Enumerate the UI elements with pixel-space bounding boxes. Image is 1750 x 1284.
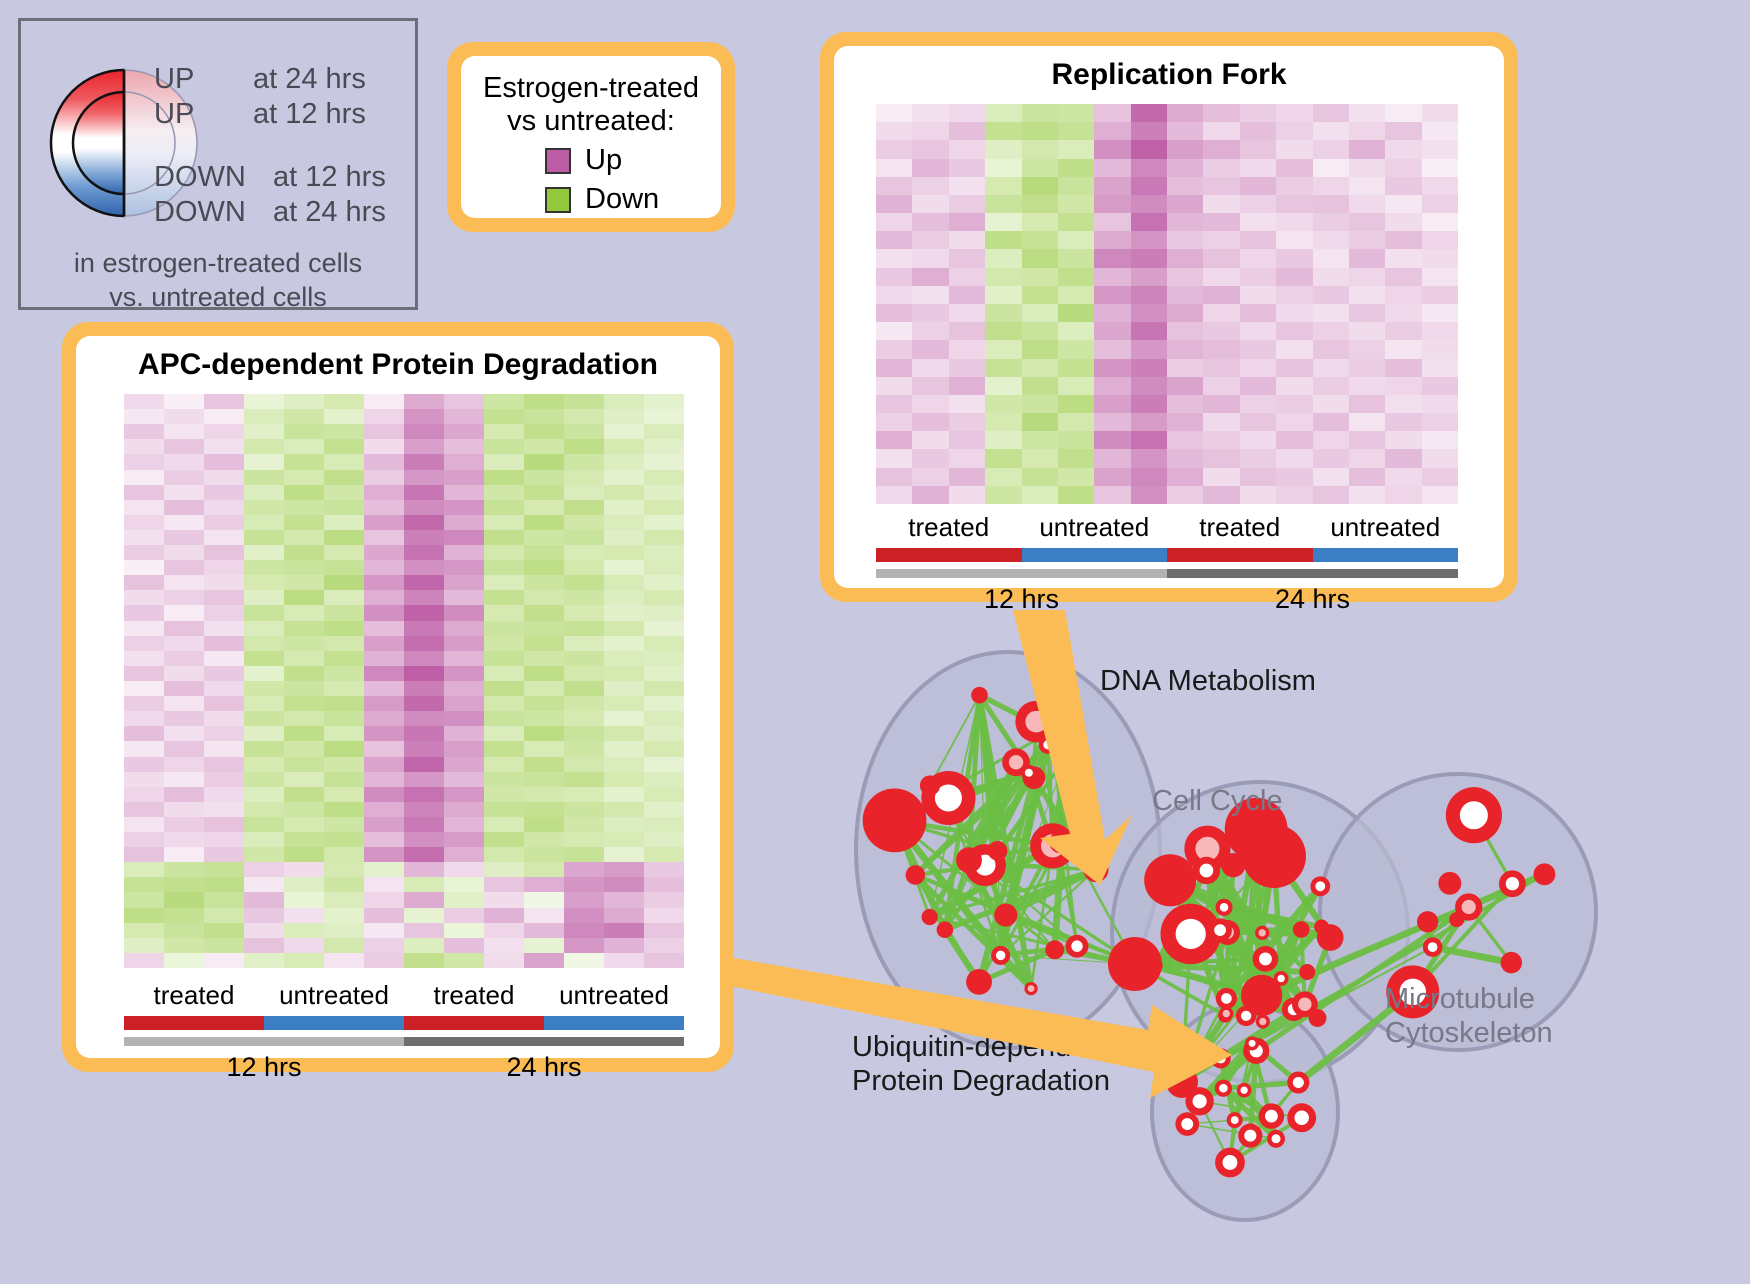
heatmap-cell <box>1349 395 1385 413</box>
heatmap-cell <box>324 621 364 636</box>
heatmap-cell <box>1203 104 1239 122</box>
heatmap-cell <box>1167 195 1203 213</box>
heatmap-cell <box>985 159 1021 177</box>
heatmap-cell <box>1240 231 1276 249</box>
heatmap-cell <box>164 938 204 953</box>
heatmap-cell <box>1203 122 1239 140</box>
heatmap-cell <box>876 413 912 431</box>
heatmap-cell <box>1022 431 1058 449</box>
heatmap-cell <box>324 605 364 620</box>
heatmap-cell <box>204 696 244 711</box>
network-node[interactable] <box>1533 863 1555 885</box>
network-node[interactable] <box>1211 1048 1231 1068</box>
heatmap-cell <box>949 486 985 504</box>
heatmap-cell <box>1422 213 1458 231</box>
heatmap-cell <box>604 636 644 651</box>
heatmap-cell <box>1313 395 1349 413</box>
network-node[interactable] <box>1314 920 1329 935</box>
network-node[interactable] <box>956 847 982 873</box>
heatmap-cell <box>164 696 204 711</box>
heatmap-cell <box>1058 340 1094 358</box>
network-node[interactable] <box>1310 876 1330 896</box>
heatmap-cell <box>1094 213 1130 231</box>
key-state-3: DOWN <box>154 196 246 229</box>
heatmap-cell <box>1094 322 1130 340</box>
heatmap-cell <box>912 322 948 340</box>
heatmap-cell <box>1422 249 1458 267</box>
heatmap-cell <box>949 104 985 122</box>
network-node[interactable] <box>1166 1066 1198 1098</box>
heatmap-cell <box>284 938 324 953</box>
network-node[interactable] <box>1108 937 1162 991</box>
heatmap-cell <box>284 470 324 485</box>
heatmap-cell <box>324 938 364 953</box>
apc-degradation-panel: APC-dependent Protein Degradation treate… <box>62 322 734 1072</box>
heatmap-cell <box>284 590 324 605</box>
network-node[interactable] <box>1175 1112 1199 1136</box>
heatmap-cell <box>484 439 524 454</box>
apc-degradation-inner: APC-dependent Protein Degradation treate… <box>76 336 720 1058</box>
heatmap-cell <box>484 575 524 590</box>
heatmap-cell <box>949 213 985 231</box>
heatmap-cell <box>1131 304 1167 322</box>
heatmap-cell <box>324 741 364 756</box>
heatmap-cell <box>204 560 244 575</box>
heatmap-cell <box>1058 395 1094 413</box>
heatmap-cell <box>124 847 164 862</box>
heatmap-cell <box>1058 377 1094 395</box>
network-node[interactable] <box>1021 765 1037 781</box>
heatmap-cell <box>484 681 524 696</box>
heatmap-cell <box>324 394 364 409</box>
network-node[interactable] <box>1287 1071 1309 1093</box>
network-node[interactable] <box>1438 872 1461 895</box>
heatmap-cell <box>444 711 484 726</box>
heatmap-cell <box>876 377 912 395</box>
heatmap-cell <box>124 470 164 485</box>
heatmap-cell <box>284 500 324 515</box>
network-node[interactable] <box>1259 1103 1285 1129</box>
apc-degradation-time-labels: 12 hrs24 hrs <box>124 1052 684 1083</box>
heatmap-cell <box>604 832 644 847</box>
heatmap-cell <box>604 757 644 772</box>
heatmap-cell <box>1276 195 1312 213</box>
heatmap-cell <box>1022 413 1058 431</box>
network-node[interactable] <box>1215 1080 1232 1097</box>
network-node[interactable] <box>1024 982 1037 995</box>
legend-heading-line1: Estrogen-treated <box>461 72 721 105</box>
heatmap-cell <box>524 847 564 862</box>
heatmap-cell <box>876 213 912 231</box>
heatmap-cell <box>1276 377 1312 395</box>
heatmap-cell <box>564 726 604 741</box>
heatmap-cell <box>912 359 948 377</box>
heatmap-cell <box>1022 140 1058 158</box>
heatmap-cell <box>1022 249 1058 267</box>
network-node[interactable] <box>1423 937 1443 957</box>
network-node[interactable] <box>1245 1036 1259 1050</box>
heatmap-cell <box>284 757 324 772</box>
heatmap-cell <box>1313 213 1349 231</box>
heatmap-cell <box>1385 140 1421 158</box>
network-node[interactable] <box>966 969 992 995</box>
heatmap-cell <box>1058 213 1094 231</box>
key-time-0: at 24 hrs <box>253 63 366 96</box>
heatmap-cell <box>284 741 324 756</box>
heatmap-cell <box>564 575 604 590</box>
heatmap-cell <box>444 545 484 560</box>
network-node[interactable] <box>1446 787 1502 843</box>
heatmap-cell <box>912 268 948 286</box>
heatmap-cell <box>985 449 1021 467</box>
heatmap-cell <box>164 394 204 409</box>
heatmap-cell <box>1349 286 1385 304</box>
heatmap-cell <box>244 605 284 620</box>
heatmap-cell <box>949 304 985 322</box>
heatmap-cell <box>244 787 284 802</box>
heatmap-cell <box>444 651 484 666</box>
network-node[interactable] <box>1253 946 1279 972</box>
network-node[interactable] <box>994 904 1017 927</box>
heatmap-cell <box>1422 413 1458 431</box>
heatmap-cell <box>404 862 444 877</box>
heatmap-cell <box>985 377 1021 395</box>
network-node[interactable] <box>1045 940 1064 959</box>
heatmap-cell <box>524 938 564 953</box>
replication-fork-panel: Replication Fork treateduntreatedtreated… <box>820 32 1518 602</box>
heatmap-cell <box>604 892 644 907</box>
heatmap-cell <box>364 621 404 636</box>
heatmap-cell <box>1167 249 1203 267</box>
network-node[interactable] <box>920 775 940 795</box>
heatmap-cell <box>604 938 644 953</box>
network-node[interactable] <box>1293 921 1310 938</box>
heatmap-cell <box>644 741 684 756</box>
heatmap-cell <box>1022 486 1058 504</box>
heatmap-cell <box>1094 486 1130 504</box>
heatmap-cell <box>204 394 244 409</box>
heatmap-cell <box>1313 431 1349 449</box>
network-node[interactable] <box>1449 912 1464 927</box>
heatmap-cell <box>244 741 284 756</box>
heatmap-cell <box>364 862 404 877</box>
heatmap-cell <box>404 605 444 620</box>
heatmap-cell <box>124 621 164 636</box>
heatmap-cell <box>949 431 985 449</box>
network-node[interactable] <box>1058 746 1078 766</box>
legend-panel-inner: Estrogen-treated vs untreated: Up Down <box>461 56 721 218</box>
heatmap-cell <box>644 877 684 892</box>
heatmap-cell <box>1422 140 1458 158</box>
heatmap-cell <box>912 177 948 195</box>
heatmap-cell <box>124 560 164 575</box>
heatmap-cell <box>1167 413 1203 431</box>
heatmap-cell <box>204 605 244 620</box>
heatmap-cell <box>204 938 244 953</box>
heatmap-cell <box>524 802 564 817</box>
heatmap-cell <box>484 832 524 847</box>
key-state-1: UP <box>154 98 194 131</box>
heatmap-cell <box>1131 231 1167 249</box>
heatmap-cell <box>564 409 604 424</box>
network-node[interactable] <box>1215 899 1232 916</box>
heatmap-cell <box>564 711 604 726</box>
heatmap-cell <box>912 286 948 304</box>
replication-fork-time-bar <box>876 569 1458 578</box>
network-node[interactable] <box>1256 1014 1270 1028</box>
heatmap-cell <box>1167 449 1203 467</box>
heatmap-cell <box>124 575 164 590</box>
heatmap-cell <box>244 470 284 485</box>
heatmap-cell <box>524 575 564 590</box>
heatmap-cell <box>204 772 244 787</box>
heatmap-cell <box>244 681 284 696</box>
heatmap-cell <box>284 666 324 681</box>
heatmap-cell <box>244 711 284 726</box>
heatmap-cell <box>404 500 444 515</box>
network-node[interactable] <box>1501 952 1522 973</box>
heatmap-cell <box>1167 177 1203 195</box>
legend-heading: Estrogen-treated vs untreated: <box>461 72 721 139</box>
apc-degradation-title: APC-dependent Protein Degradation <box>76 348 720 382</box>
heatmap-cell <box>876 177 912 195</box>
heatmap-cell <box>124 681 164 696</box>
heatmap-cell <box>164 439 204 454</box>
heatmap-cell <box>1276 213 1312 231</box>
heatmap-cell <box>1094 431 1130 449</box>
heatmap-cell <box>204 892 244 907</box>
heatmap-cell <box>164 908 204 923</box>
heatmap-cell <box>364 485 404 500</box>
heatmap-cell <box>1240 449 1276 467</box>
heatmap-cell <box>912 377 948 395</box>
network-node[interactable] <box>1309 1009 1327 1027</box>
heatmap-cell <box>364 726 404 741</box>
heatmap-cell <box>524 787 564 802</box>
heatmap-cell <box>524 681 564 696</box>
heatmap-cell <box>1276 140 1312 158</box>
heatmap-cell <box>164 454 204 469</box>
network-node[interactable] <box>1499 870 1526 897</box>
network-node[interactable] <box>1066 935 1089 958</box>
heatmap-cell <box>124 817 164 832</box>
network-node[interactable] <box>1274 971 1289 986</box>
network-node[interactable] <box>1299 964 1315 980</box>
heatmap-cell <box>484 500 524 515</box>
network-node[interactable] <box>991 946 1010 965</box>
heatmap-cell <box>124 394 164 409</box>
heatmap-cell <box>1022 340 1058 358</box>
heatmap-cell <box>604 424 644 439</box>
heatmap-cell <box>364 757 404 772</box>
heatmap-cell <box>204 500 244 515</box>
heatmap-cell <box>484 892 524 907</box>
heatmap-cell <box>1167 304 1203 322</box>
heatmap-cell <box>404 832 444 847</box>
network-node[interactable] <box>1417 911 1438 932</box>
heatmap-cell <box>1203 177 1239 195</box>
heatmap-cell <box>444 938 484 953</box>
heatmap-cell <box>1385 304 1421 322</box>
heatmap-cell <box>949 231 985 249</box>
heatmap-cell <box>985 268 1021 286</box>
heatmap-cell <box>1385 104 1421 122</box>
network-node[interactable] <box>1255 926 1269 940</box>
heatmap-cell <box>1240 268 1276 286</box>
heatmap-cell <box>1094 359 1130 377</box>
network-node[interactable] <box>922 909 938 925</box>
heatmap-cell <box>444 621 484 636</box>
heatmap-cell <box>124 545 164 560</box>
heatmap-cell <box>164 681 204 696</box>
column-group-label: treated <box>1167 512 1313 543</box>
heatmap-cell <box>124 908 164 923</box>
heatmap-cell <box>124 787 164 802</box>
network-node[interactable] <box>937 921 954 938</box>
heatmap-cell <box>204 424 244 439</box>
network-node[interactable] <box>1227 1112 1243 1128</box>
network-node[interactable] <box>1237 1083 1252 1098</box>
heatmap-cell <box>324 590 364 605</box>
heatmap-cell <box>244 424 284 439</box>
heatmap-cell <box>1022 359 1058 377</box>
network-node[interactable] <box>1144 854 1196 906</box>
apc-degradation-group-bar <box>124 1016 684 1030</box>
heatmap-cell <box>204 651 244 666</box>
network-node[interactable] <box>971 687 988 704</box>
heatmap-cell <box>244 500 284 515</box>
heatmap-cell <box>1240 377 1276 395</box>
heatmap-cell <box>124 772 164 787</box>
heatmap-cell <box>444 394 484 409</box>
heatmap-cell <box>364 530 404 545</box>
heatmap-cell <box>204 530 244 545</box>
network-node[interactable] <box>988 841 1008 861</box>
network-node[interactable] <box>1208 918 1232 942</box>
heatmap-cell <box>1240 286 1276 304</box>
heatmap-cell <box>364 953 404 968</box>
heatmap-cell <box>1131 359 1167 377</box>
heatmap-cell <box>1422 304 1458 322</box>
network-node[interactable] <box>1039 736 1057 754</box>
heatmap-cell <box>1385 322 1421 340</box>
heatmap-cell <box>244 892 284 907</box>
heatmap-cell <box>564 545 604 560</box>
heatmap-cell <box>404 439 444 454</box>
heatmap-cell <box>1203 249 1239 267</box>
network-node[interactable] <box>863 788 927 852</box>
network-node[interactable] <box>1049 831 1071 853</box>
heatmap-cell <box>1385 486 1421 504</box>
heatmap-cell <box>1349 449 1385 467</box>
network-node[interactable] <box>1215 1148 1245 1178</box>
network-node[interactable] <box>1221 853 1245 877</box>
heatmap-cell <box>564 515 604 530</box>
heatmap-cell <box>1313 486 1349 504</box>
legend-key-box: UP at 24 hrs UP at 12 hrs DOWN at 12 hrs… <box>18 18 418 310</box>
replication-fork-group-bar <box>876 548 1458 562</box>
heatmap-cell <box>284 862 324 877</box>
heatmap-cell <box>564 470 604 485</box>
heatmap-cell <box>484 409 524 424</box>
heatmap-cell <box>324 711 364 726</box>
heatmap-cell <box>1094 159 1130 177</box>
heatmap-cell <box>404 681 444 696</box>
heatmap-cell <box>404 953 444 968</box>
heatmap-grid <box>876 104 1458 504</box>
heatmap-cell <box>1385 268 1421 286</box>
heatmap-cell <box>876 359 912 377</box>
network-node[interactable] <box>1083 857 1108 882</box>
timepoint-label: 24 hrs <box>404 1052 684 1083</box>
heatmap-cell <box>564 741 604 756</box>
heatmap-cell <box>876 486 912 504</box>
heatmap-cell <box>1240 395 1276 413</box>
heatmap-cell <box>524 621 564 636</box>
network-node[interactable] <box>1236 1006 1257 1027</box>
heatmap-cell <box>876 395 912 413</box>
network-node[interactable] <box>1193 857 1220 884</box>
heatmap-cell <box>364 636 404 651</box>
heatmap-cell <box>324 560 364 575</box>
heatmap-cell <box>949 140 985 158</box>
replication-fork-heatmap <box>876 104 1458 504</box>
cluster-label-microtubule-cytoskeleton: Microtubule Cytoskeleton <box>1385 982 1553 1050</box>
heatmap-cell <box>124 424 164 439</box>
heatmap-cell <box>204 923 244 938</box>
heatmap-cell <box>324 802 364 817</box>
heatmap-cell <box>484 817 524 832</box>
heatmap-cell <box>1240 359 1276 377</box>
heatmap-cell <box>1349 304 1385 322</box>
heatmap-cell <box>1058 359 1094 377</box>
heatmap-cell <box>1022 377 1058 395</box>
heatmap-cell <box>524 953 564 968</box>
heatmap-cell <box>1385 413 1421 431</box>
network-node[interactable] <box>1267 1130 1285 1148</box>
heatmap-cell <box>912 159 948 177</box>
heatmap-cell <box>644 590 684 605</box>
heatmap-cell <box>949 322 985 340</box>
heatmap-cell <box>324 470 364 485</box>
heatmap-cell <box>912 104 948 122</box>
heatmap-cell <box>876 449 912 467</box>
heatmap-cell <box>564 802 604 817</box>
heatmap-cell <box>1022 104 1058 122</box>
heatmap-cell <box>364 409 404 424</box>
heatmap-cell <box>524 877 564 892</box>
heatmap-cell <box>876 322 912 340</box>
heatmap-cell <box>1313 249 1349 267</box>
heatmap-cell <box>1313 122 1349 140</box>
heatmap-cell <box>564 892 604 907</box>
heatmap-cell <box>484 424 524 439</box>
heatmap-cell <box>484 621 524 636</box>
heatmap-cell <box>1167 468 1203 486</box>
heatmap-cell <box>404 590 444 605</box>
key-time-2: at 12 hrs <box>273 161 386 194</box>
heatmap-cell <box>1385 449 1421 467</box>
heatmap-cell <box>985 249 1021 267</box>
network-node[interactable] <box>906 865 925 884</box>
network-node[interactable] <box>1287 1103 1316 1132</box>
heatmap-cell <box>244 651 284 666</box>
network-node[interactable] <box>1216 988 1237 1009</box>
heatmap-cell <box>1094 413 1130 431</box>
heatmap-cell <box>444 772 484 787</box>
heatmap-cell <box>1422 322 1458 340</box>
network-node[interactable] <box>1238 1124 1262 1148</box>
